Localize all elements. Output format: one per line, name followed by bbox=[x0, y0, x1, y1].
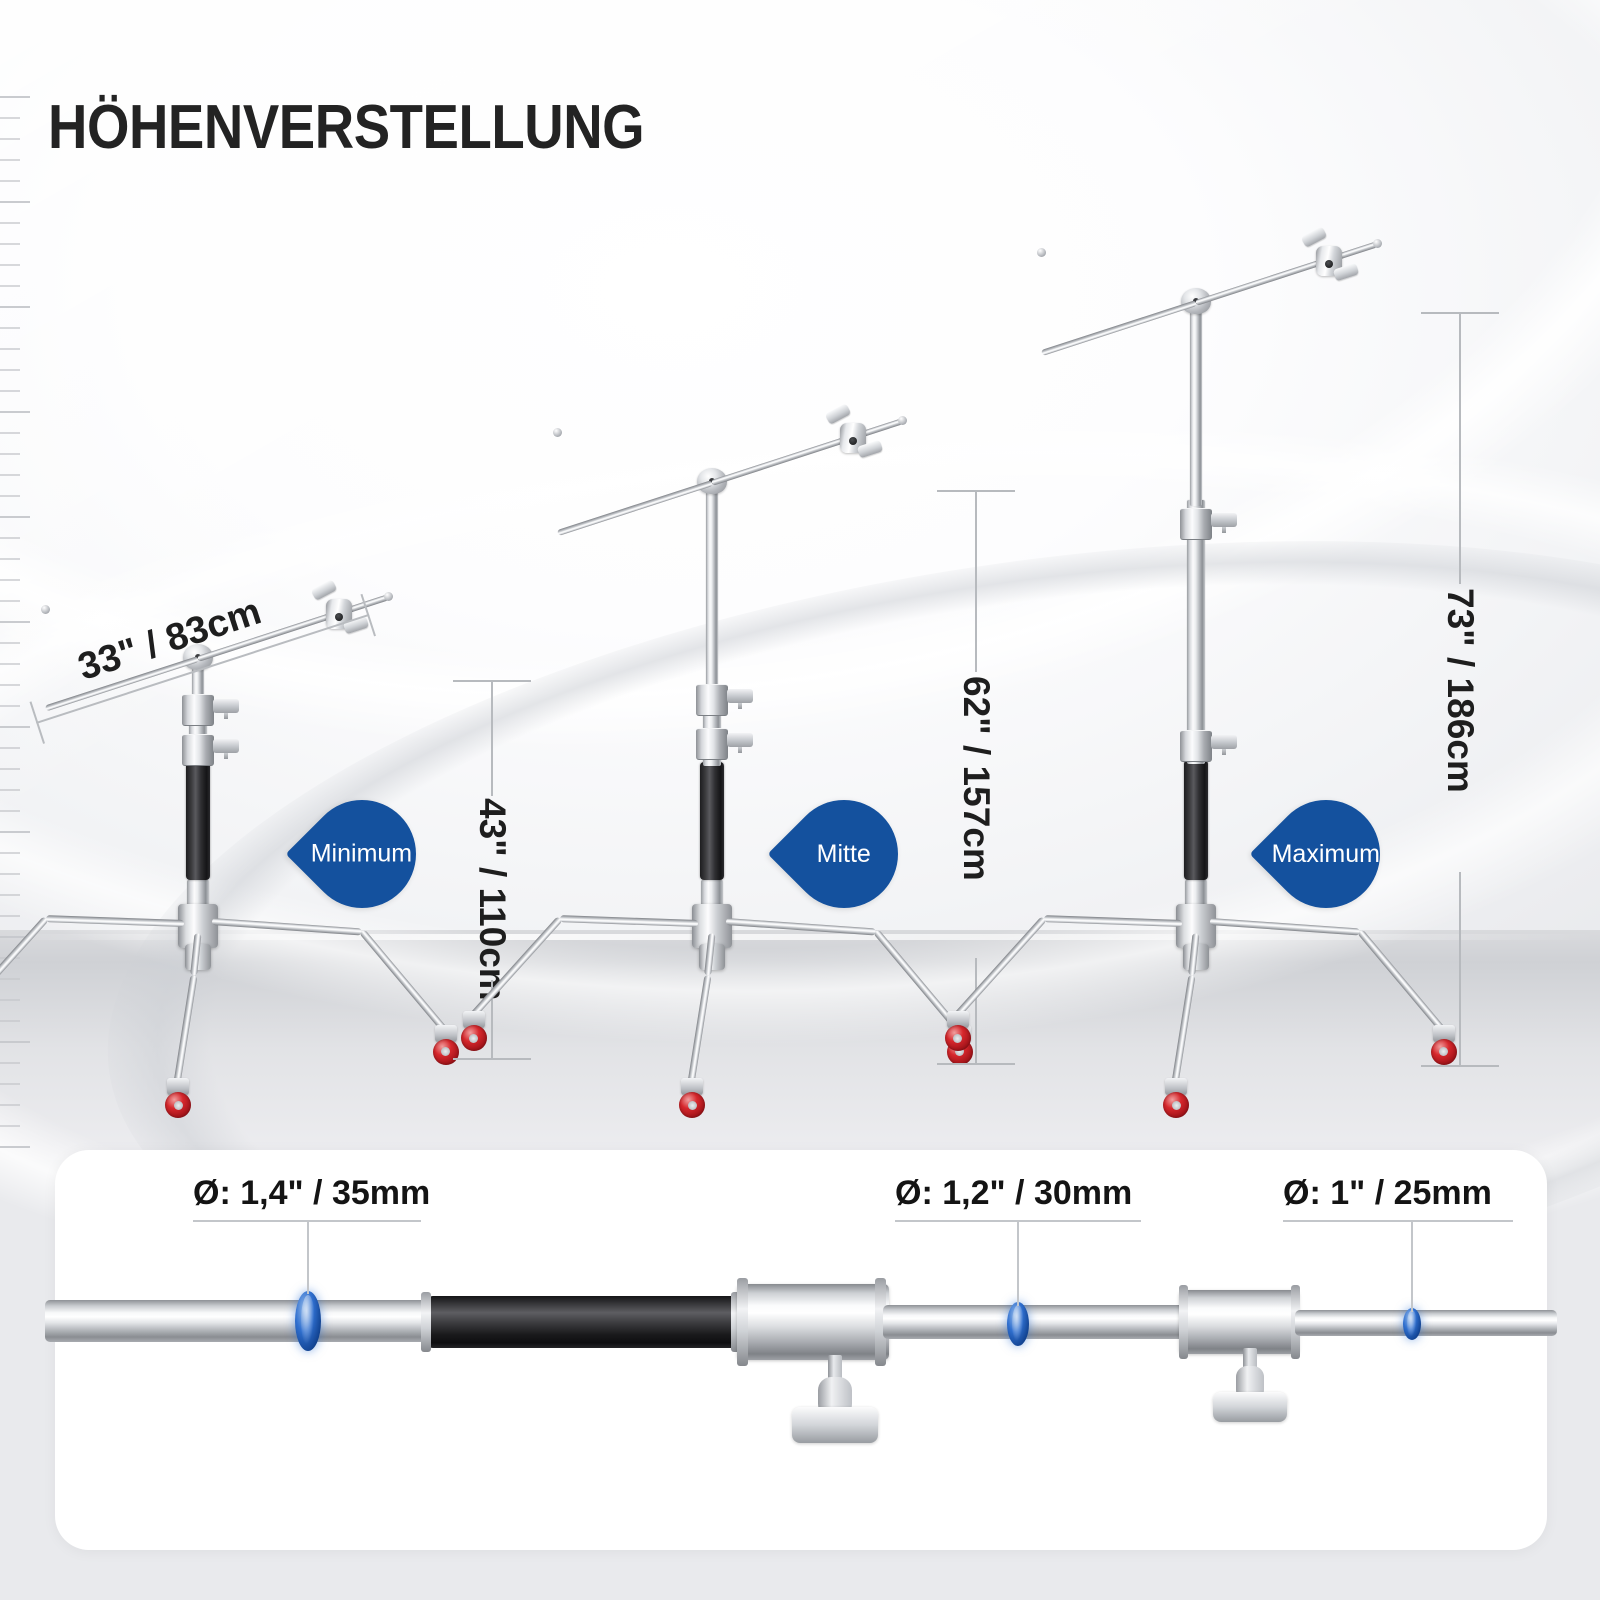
ruler-tick bbox=[0, 1062, 20, 1064]
lock-collar-1[interactable] bbox=[1180, 508, 1212, 540]
grip-head-icon[interactable] bbox=[1316, 244, 1346, 278]
caster-wheel-icon-2 bbox=[165, 1078, 195, 1124]
lock-collar-2[interactable] bbox=[1180, 730, 1212, 762]
badge-minimum-label: Minimum bbox=[311, 840, 412, 869]
ruler-tick bbox=[0, 537, 20, 539]
foam-grip bbox=[1184, 760, 1208, 880]
diameter-marker-middle bbox=[1007, 1302, 1029, 1346]
t-knob-icon-2[interactable] bbox=[213, 739, 239, 753]
t-knob-icon-2[interactable] bbox=[727, 733, 753, 747]
tube-upper-chrome bbox=[1295, 1310, 1557, 1336]
t-knob-icon-2[interactable] bbox=[1211, 735, 1237, 749]
ruler-tick bbox=[0, 768, 20, 770]
ruler-tick bbox=[0, 558, 20, 560]
ruler-tick bbox=[0, 810, 20, 812]
boom-end-cap-left bbox=[553, 428, 562, 437]
lock-collar-1[interactable] bbox=[182, 694, 214, 726]
ruler-tick bbox=[0, 159, 20, 161]
grip-head-icon[interactable] bbox=[840, 421, 870, 455]
t-knob-icon-right[interactable] bbox=[1185, 1348, 1315, 1458]
foam-grip bbox=[700, 762, 724, 880]
leader-line-lower bbox=[307, 1222, 309, 1294]
ruler-tick bbox=[0, 600, 20, 602]
ruler-tick bbox=[0, 1104, 20, 1106]
ruler-tick bbox=[0, 516, 30, 518]
stand-column-lower bbox=[701, 880, 723, 906]
ruler-tick bbox=[0, 705, 20, 707]
ruler-tick bbox=[0, 306, 30, 308]
ruler-tick bbox=[0, 264, 20, 266]
badge-mitte-label: Mitte bbox=[817, 840, 871, 869]
caster-wheel bbox=[461, 1025, 487, 1051]
ruler-tick bbox=[0, 327, 20, 329]
ruler-tick bbox=[0, 684, 20, 686]
stand-column-lower bbox=[187, 880, 209, 906]
ruler-tick bbox=[0, 1041, 30, 1043]
ruler-tick bbox=[0, 873, 20, 875]
collar-clamp-right[interactable] bbox=[1179, 1290, 1299, 1354]
ruler-tick bbox=[0, 432, 20, 434]
tube-middle-chrome bbox=[883, 1305, 1223, 1339]
caster-wheel bbox=[1431, 1039, 1457, 1065]
ruler-tick bbox=[0, 348, 20, 350]
caster-wheel-icon-2 bbox=[679, 1078, 709, 1124]
ruler-tick bbox=[0, 180, 20, 182]
stand-column-upper bbox=[1190, 302, 1202, 506]
ruler-tick bbox=[0, 1020, 20, 1022]
page-title: HÖHENVERSTELLUNG bbox=[48, 92, 644, 163]
caster-wheel-icon-2 bbox=[1163, 1078, 1193, 1124]
boom-end-cap-right bbox=[1373, 239, 1382, 248]
floor-band bbox=[0, 930, 1600, 1160]
leader-line-middle bbox=[1017, 1222, 1019, 1306]
ruler-tick bbox=[0, 453, 20, 455]
ruler-tick bbox=[0, 222, 20, 224]
ruler-tick bbox=[0, 201, 30, 203]
ruler-icon bbox=[0, 96, 50, 1166]
dimension-height-mitte-label: 62" / 157cm bbox=[955, 676, 997, 881]
collar-clamp-left[interactable] bbox=[737, 1284, 889, 1360]
ruler-tick bbox=[0, 915, 20, 917]
ruler-tick bbox=[0, 726, 30, 728]
ruler-tick bbox=[0, 579, 20, 581]
ruler-tick bbox=[0, 243, 20, 245]
ruler-tick bbox=[0, 999, 20, 1001]
caster-wheel bbox=[1163, 1092, 1189, 1118]
caster-wheel bbox=[679, 1092, 705, 1118]
ruler-tick bbox=[0, 1083, 20, 1085]
infographic-canvas: HÖHENVERSTELLUNG 33" / 83cm 43" / 110cm … bbox=[0, 0, 1600, 1600]
caster-wheel bbox=[945, 1025, 971, 1051]
caster-wheel-icon-1 bbox=[945, 1011, 975, 1057]
ruler-tick bbox=[0, 495, 20, 497]
diameter-marker-upper bbox=[1403, 1308, 1421, 1340]
caster-wheel-icon-1 bbox=[461, 1011, 491, 1057]
ruler-tick bbox=[0, 831, 30, 833]
ruler-tick bbox=[0, 747, 20, 749]
boom-end-cap-left bbox=[1037, 248, 1046, 257]
ruler-tick bbox=[0, 411, 30, 413]
boom-end-cap-left bbox=[41, 605, 50, 614]
grip-end-ring-left bbox=[421, 1292, 431, 1352]
caster-wheel-icon-3 bbox=[1431, 1025, 1461, 1071]
t-knob-icon-left[interactable] bbox=[755, 1355, 915, 1475]
ruler-tick bbox=[0, 285, 20, 287]
underline-middle bbox=[895, 1220, 1141, 1222]
grip-head-hole bbox=[335, 613, 343, 621]
diameter-label-upper: Ø: 1" / 25mm bbox=[1283, 1174, 1492, 1213]
ruler-tick bbox=[0, 852, 20, 854]
diameter-label-middle: Ø: 1,2" / 30mm bbox=[895, 1174, 1132, 1213]
lock-collar-1[interactable] bbox=[696, 684, 728, 716]
ruler-tick bbox=[0, 894, 20, 896]
caster-wheel bbox=[433, 1039, 459, 1065]
ruler-tick bbox=[0, 663, 20, 665]
ruler-tick bbox=[0, 789, 20, 791]
tube-lower-chrome bbox=[45, 1300, 475, 1342]
leader-line-upper bbox=[1411, 1222, 1413, 1312]
ruler-tick bbox=[0, 474, 20, 476]
ruler-tick bbox=[0, 1146, 30, 1148]
caster-wheel-icon-3 bbox=[433, 1025, 463, 1071]
ruler-tick bbox=[0, 96, 30, 98]
caster-wheel bbox=[165, 1092, 191, 1118]
lock-collar-2[interactable] bbox=[696, 728, 728, 760]
ruler-tick bbox=[0, 621, 30, 623]
ruler-tick bbox=[0, 369, 20, 371]
stand-column-lower bbox=[1185, 880, 1207, 906]
t-knob-icon-1[interactable] bbox=[727, 689, 753, 703]
grip-head-hole bbox=[849, 437, 857, 445]
grip-head-hole bbox=[1325, 260, 1333, 268]
ruler-tick bbox=[0, 117, 20, 119]
ruler-tick bbox=[0, 138, 20, 140]
foam-grip bbox=[186, 762, 210, 880]
ruler-tick bbox=[0, 978, 20, 980]
ruler-tick bbox=[0, 390, 20, 392]
diameter-label-lower: Ø: 1,4" / 35mm bbox=[193, 1174, 430, 1213]
dimension-height-minimum-label: 43" / 110cm bbox=[471, 798, 513, 1001]
badge-maximum-label: Maximum bbox=[1272, 840, 1380, 869]
underline-upper bbox=[1283, 1220, 1513, 1222]
stand-column-upper bbox=[706, 482, 718, 696]
lock-collar-2[interactable] bbox=[182, 734, 214, 766]
detail-panel: Ø: 1,4" / 35mm Ø: 1,2" / 30mm Ø: 1" / 25… bbox=[55, 1150, 1547, 1550]
t-knob-icon-1[interactable] bbox=[1211, 513, 1237, 527]
tube-foam-grip bbox=[427, 1296, 737, 1348]
collar-left-flange-a bbox=[737, 1278, 748, 1366]
ruler-tick bbox=[0, 1125, 20, 1127]
diameter-marker-lower bbox=[295, 1291, 321, 1351]
underline-lower bbox=[193, 1220, 421, 1222]
ruler-tick bbox=[0, 642, 20, 644]
dimension-height-maximum-label: 73" / 186cm bbox=[1439, 588, 1481, 793]
t-knob-icon-1[interactable] bbox=[213, 699, 239, 713]
